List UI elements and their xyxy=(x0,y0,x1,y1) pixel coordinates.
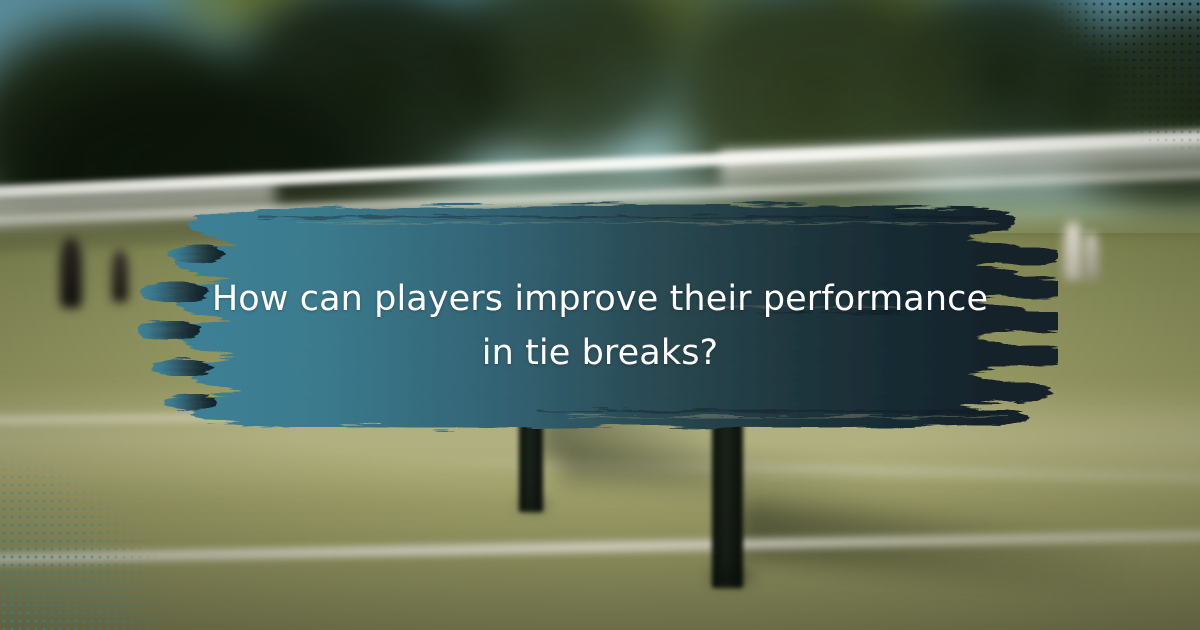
page-title: How can players improve their performanc… xyxy=(150,272,1050,381)
social-card: How can players improve their performanc… xyxy=(0,0,1200,630)
